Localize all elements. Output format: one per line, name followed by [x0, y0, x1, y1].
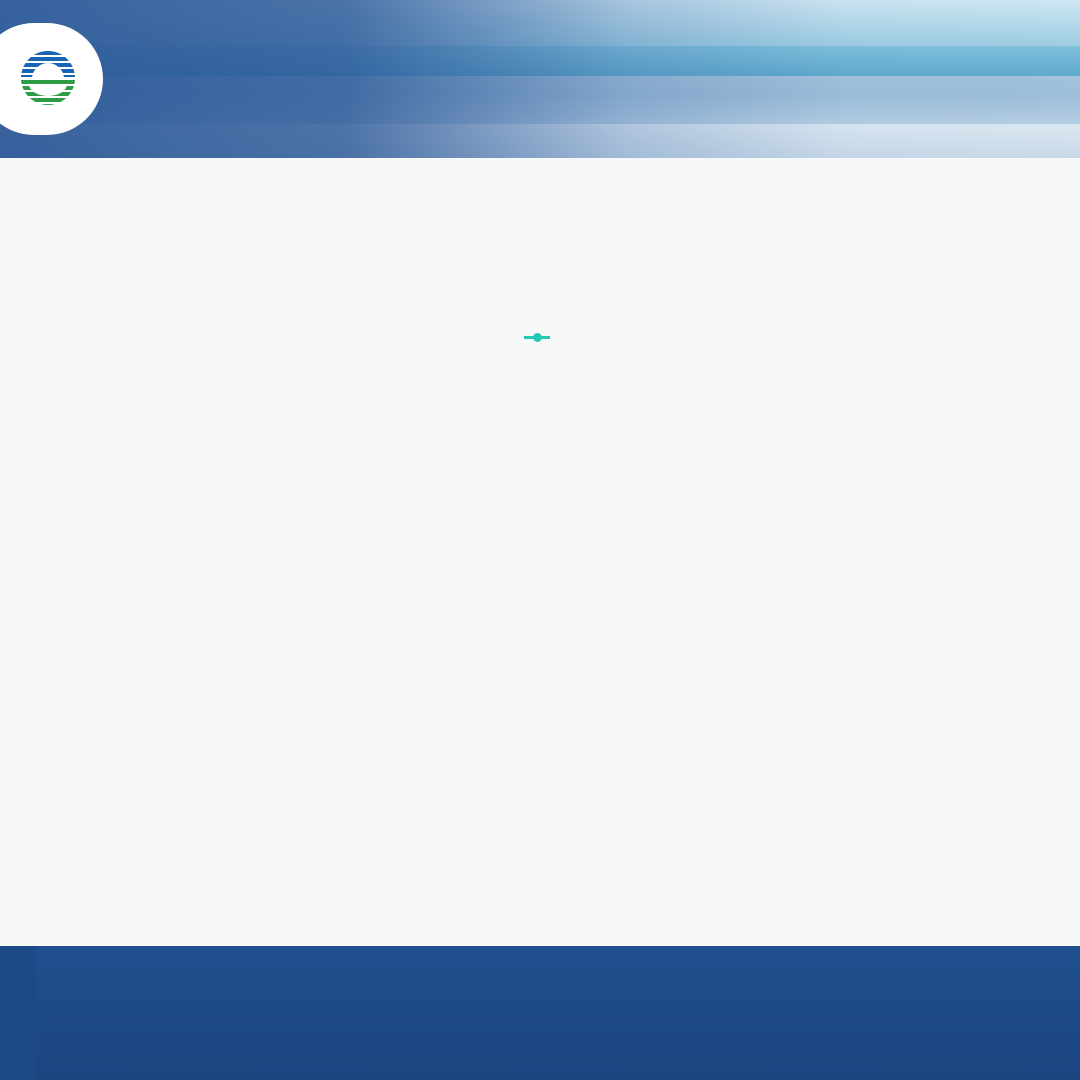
chart-legend-marker: [524, 336, 550, 339]
sst-chart-svg: [18, 222, 1062, 334]
legend-tab: [0, 946, 36, 1080]
page-header: [0, 0, 1080, 158]
validity-period: [0, 174, 1080, 192]
sst-chart: [18, 222, 1062, 334]
legend-body: [36, 946, 1080, 1080]
page-title-block: [0, 174, 1080, 192]
bmkg-logo-mark: [21, 51, 75, 105]
header-gradient-overlay: [0, 0, 1080, 158]
legend-bar: [0, 946, 1080, 1080]
